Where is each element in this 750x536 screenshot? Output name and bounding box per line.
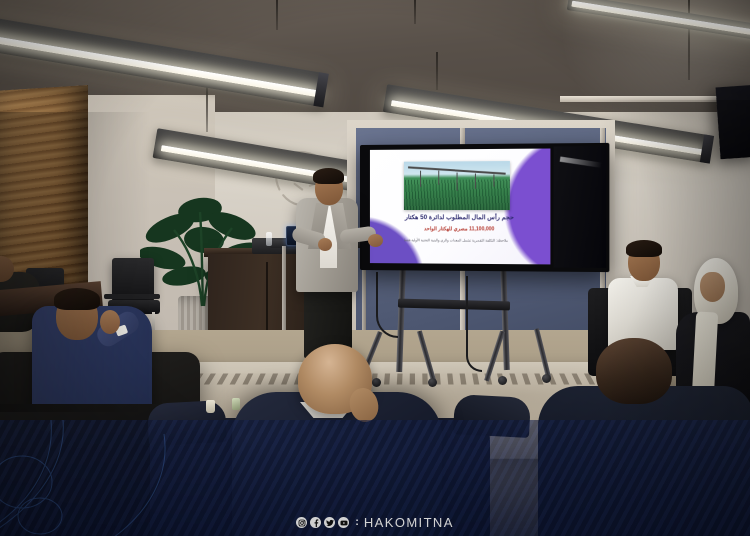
- glass-bottle: [266, 232, 272, 246]
- slide-note: ملاحظة: التكلفة التقديرية تشمل المعدات و…: [380, 238, 533, 244]
- watermark-separator: :: [355, 517, 359, 528]
- pivot-truss-2: [438, 171, 439, 185]
- presentation-slide: حجم رأس المال المطلوب لدائرة 50 هكتار 11…: [370, 149, 550, 265]
- wall-shadow-left: [0, 112, 150, 412]
- slide-title: حجم رأس المال المطلوب لدائرة 50 هكتار: [376, 214, 544, 221]
- presenter-hair: [313, 168, 344, 184]
- pendant-wire-2: [414, 0, 416, 24]
- drink-cup: [232, 398, 240, 410]
- instagram-icon[interactable]: [296, 517, 307, 528]
- pivot-truss-3: [457, 173, 458, 191]
- slide-subtitle: 11,100,000 مصري للهكتار الواحد: [376, 226, 544, 233]
- youtube-icon[interactable]: [338, 517, 349, 528]
- stand-caster-3: [498, 376, 507, 385]
- stand-caster-1: [372, 378, 381, 387]
- hdmi-cable: [376, 272, 398, 338]
- watermark-bar: : HAKOMITNA: [0, 515, 750, 530]
- presenter-hand-left: [318, 238, 332, 251]
- pendant-wire-3: [206, 86, 208, 132]
- pivot-truss-1: [420, 171, 421, 187]
- sofa-armrest-left: [147, 400, 227, 446]
- pivot-truss-4: [475, 173, 476, 188]
- wall-shadow-right: [600, 100, 750, 420]
- water-cup: [206, 400, 215, 413]
- power-cable: [466, 276, 482, 372]
- pendant-wire-4: [436, 52, 438, 90]
- pivot-truss-5: [493, 174, 494, 186]
- pendant-wire-1: [276, 0, 278, 30]
- sofa-armrest-right: [453, 394, 531, 438]
- presenter-hand-right: [368, 234, 383, 247]
- tv-display: حجم رأس المال المطلوب لدائرة 50 هكتار 11…: [360, 143, 609, 272]
- facebook-icon[interactable]: [310, 517, 321, 528]
- stand-caster-2: [428, 378, 437, 387]
- meeting-room-photo: حجم رأس المال المطلوب لدائرة 50 هكتار 11…: [0, 0, 750, 536]
- stand-caster-4: [542, 374, 551, 383]
- slide-irrigation-photo: [404, 161, 510, 210]
- watermark-handle: HAKOMITNA: [364, 515, 454, 530]
- twitter-icon[interactable]: [324, 517, 335, 528]
- rug-border-pattern: [178, 373, 652, 384]
